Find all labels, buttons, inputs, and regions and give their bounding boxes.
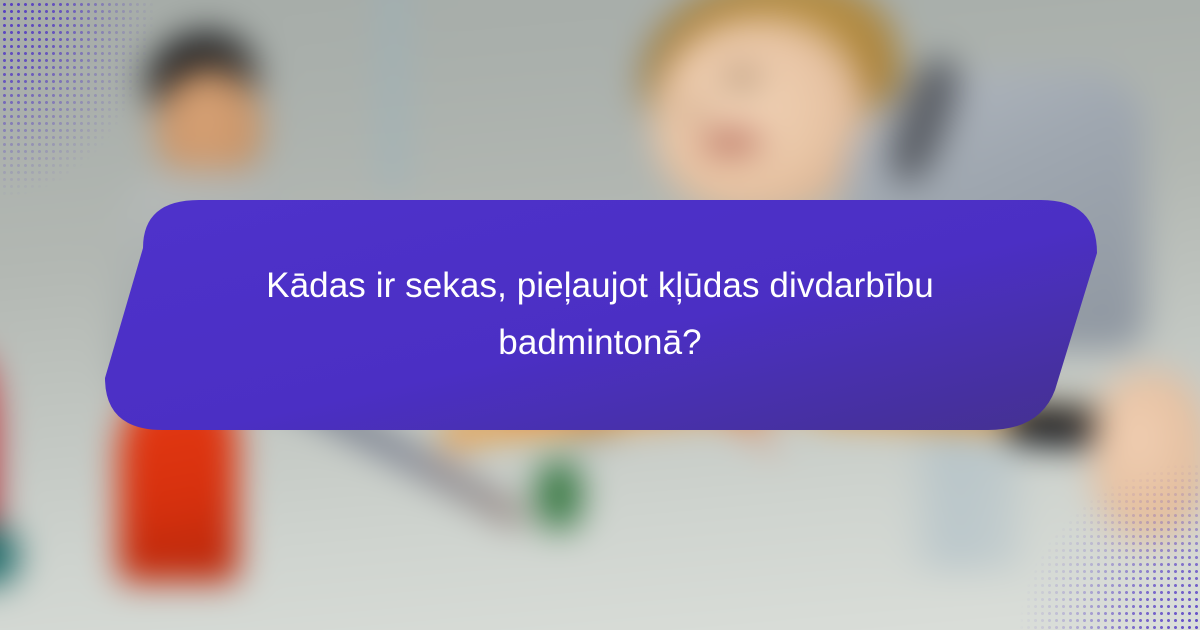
- page-title: Kādas ir sekas, pieļaujot kļūdas divdarb…: [186, 258, 1014, 371]
- share-card-canvas: Kādas ir sekas, pieļaujot kļūdas divdarb…: [0, 0, 1200, 630]
- headline-card-text-area: Kādas ir sekas, pieļaujot kļūdas divdarb…: [160, 200, 1040, 430]
- headline-card: Kādas ir sekas, pieļaujot kļūdas divdarb…: [0, 0, 1200, 630]
